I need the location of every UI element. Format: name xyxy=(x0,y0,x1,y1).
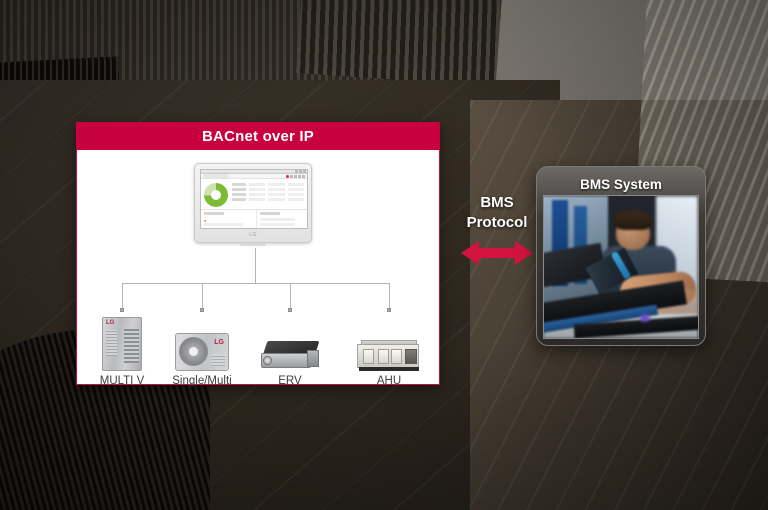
row-cell xyxy=(288,198,304,201)
donut-chart-icon xyxy=(204,183,228,207)
screen-energy-panel xyxy=(201,179,307,210)
row-cell xyxy=(268,193,284,196)
panel-heading xyxy=(260,212,280,215)
connector-drop-1 xyxy=(122,283,123,310)
unit-grill xyxy=(124,329,139,363)
device-label-multi-v: MULTI V xyxy=(87,375,157,387)
row-label xyxy=(232,188,246,191)
unit-intake xyxy=(106,330,117,356)
row-cell xyxy=(288,183,304,186)
table-row xyxy=(232,183,304,186)
row-cell xyxy=(268,183,284,186)
device-single-multi: LG Single/Multi xyxy=(159,315,245,387)
device-image-multi-v: LG xyxy=(87,315,157,371)
table-row xyxy=(232,198,304,201)
connector-drop-4 xyxy=(389,283,390,310)
screen-toolbar-icons xyxy=(286,175,305,178)
connector-drop-2 xyxy=(202,283,203,310)
row-label xyxy=(232,198,246,201)
central-controller-monitor: ● LG xyxy=(194,163,312,243)
connector-drop-3 xyxy=(290,283,291,310)
erv-side xyxy=(307,350,319,367)
panel-line xyxy=(204,223,243,226)
ahu-filter-section xyxy=(405,349,417,364)
row-cell xyxy=(249,193,265,196)
panel-heading xyxy=(204,212,224,215)
connector-cap-4 xyxy=(387,308,391,312)
row-label xyxy=(232,183,246,186)
row-cell xyxy=(249,183,265,186)
bms-protocol-arrow-wrap xyxy=(443,240,551,266)
panel-line xyxy=(260,218,295,221)
row-cell xyxy=(268,198,284,201)
unit-fan-hub xyxy=(189,347,198,356)
window-close-icon xyxy=(303,170,306,173)
device-multi-v: LG MULTI V xyxy=(87,315,157,387)
double-headed-arrow-icon xyxy=(461,240,533,266)
connector-bus-horizontal xyxy=(122,283,389,284)
device-label-erv: ERV xyxy=(252,375,328,387)
toolbar-icon-3 xyxy=(294,175,297,178)
screen-data-table xyxy=(232,181,304,207)
photo-operator-hair xyxy=(614,210,652,230)
row-cell xyxy=(249,188,265,191)
bms-operator-workstation-photo xyxy=(543,195,699,339)
table-row xyxy=(232,188,304,191)
connector-cap-2 xyxy=(200,308,204,312)
diagram-stage: BACnet over IP xyxy=(0,0,768,510)
erv-duct-port xyxy=(263,356,272,365)
lg-logo: LG xyxy=(106,320,114,326)
ahu-base xyxy=(359,367,419,371)
connector-cap-1 xyxy=(120,308,124,312)
toolbar-icon-4 xyxy=(298,175,301,178)
row-cell xyxy=(268,188,284,191)
bms-system-title: BMS System xyxy=(543,173,699,195)
device-image-erv xyxy=(252,315,328,371)
bms-dashboard-screen: ● xyxy=(200,169,308,229)
ahu-access-panel xyxy=(378,349,389,364)
bms-protocol-line-1: BMS xyxy=(443,193,551,213)
screen-address-pill xyxy=(203,174,229,178)
photo-indicator-light xyxy=(640,314,650,322)
screen-gauge-panel: ● xyxy=(201,210,257,229)
screen-status-panel xyxy=(257,210,307,229)
row-label xyxy=(232,193,246,196)
ahu-access-panel xyxy=(363,349,374,364)
monitor-brand-label: LG xyxy=(200,229,306,240)
device-label-single-multi: Single/Multi xyxy=(159,375,245,387)
bms-system-panel: BMS System xyxy=(536,166,706,346)
toolbar-icon-1 xyxy=(286,175,289,178)
connector-cap-3 xyxy=(288,308,292,312)
ahu-unit-icon xyxy=(357,337,421,371)
row-cell xyxy=(249,198,265,201)
connector-trunk-vertical xyxy=(255,248,256,284)
device-ahu: AHU xyxy=(349,315,429,387)
outdoor-unit-multi-v-icon: LG xyxy=(102,317,142,371)
bacnet-card-body: ● LG xyxy=(77,150,439,384)
screen-lower-panels: ● xyxy=(201,210,307,229)
erv-unit-icon xyxy=(261,341,319,371)
bacnet-card-title: BACnet over IP xyxy=(202,128,314,145)
bacnet-card-header: BACnet over IP xyxy=(76,122,440,150)
bms-protocol-block: BMS Protocol xyxy=(443,193,551,266)
device-label-ahu: AHU xyxy=(349,375,429,387)
ahu-access-panel xyxy=(391,349,402,364)
device-image-ahu xyxy=(349,315,429,371)
row-cell xyxy=(288,193,304,196)
outdoor-unit-single-multi-icon: LG xyxy=(175,333,229,371)
monitor-stand xyxy=(240,243,266,246)
toolbar-icon-5 xyxy=(302,175,305,178)
row-cell xyxy=(288,188,304,191)
window-maximize-icon xyxy=(299,170,302,173)
toolbar-icon-2 xyxy=(290,175,293,178)
bms-protocol-line-2: Protocol xyxy=(443,213,551,233)
bacnet-card: BACnet over IP xyxy=(76,122,440,385)
unit-vent xyxy=(211,354,225,366)
window-minimize-icon xyxy=(295,170,298,173)
lg-logo: LG xyxy=(214,339,224,346)
panel-line xyxy=(260,223,295,226)
table-row xyxy=(232,193,304,196)
device-image-single-multi: LG xyxy=(159,315,245,371)
device-erv: ERV xyxy=(252,315,328,387)
